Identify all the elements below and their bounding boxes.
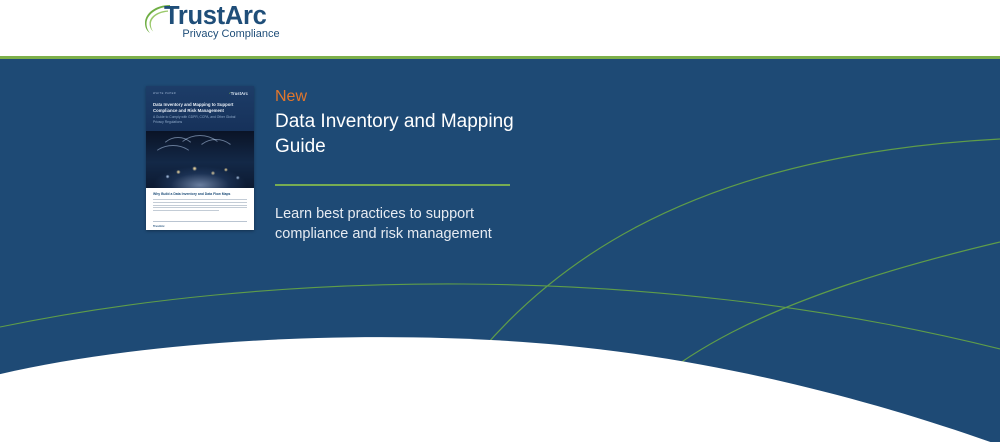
- cover-body-lines: [153, 199, 247, 213]
- cover-top-panel: WHITE PAPER ◜TrustArc Data Inventory and…: [146, 86, 254, 132]
- promo-banner-page: TrustArc Privacy Compliance WHITE PAPER …: [0, 0, 1000, 442]
- logo-tagline: Privacy Compliance: [170, 28, 292, 41]
- promo-title: Data Inventory and Mapping Guide: [275, 110, 525, 159]
- trustarc-logo[interactable]: TrustArc Privacy Compliance: [140, 1, 310, 45]
- promo-content: WHITE PAPER ◜TrustArc Data Inventory and…: [0, 59, 1000, 442]
- cover-footer-logo: TrustArc: [153, 224, 165, 228]
- cover-lower-panel: Why Build a Data Inventory and Data Flow…: [146, 188, 254, 230]
- cover-logo-text: TrustArc: [231, 91, 248, 96]
- promo-divider: [275, 184, 510, 186]
- cover-footer-rule: [153, 221, 247, 222]
- logo-wordmark: TrustArc: [164, 3, 266, 29]
- cover-lower-heading: Why Build a Data Inventory and Data Flow…: [153, 192, 230, 196]
- cover-globe-image: [146, 131, 254, 188]
- promo-new-badge: New: [275, 87, 575, 107]
- header-green-rule: [0, 56, 1000, 59]
- cover-trustarc-logo: ◜TrustArc: [229, 91, 248, 96]
- site-header: TrustArc Privacy Compliance: [0, 0, 1000, 56]
- promo-text-column: New Data Inventory and Mapping Guide Lea…: [275, 87, 575, 244]
- promo-subtitle: Learn best practices to support complian…: [275, 204, 525, 244]
- cover-title: Data Inventory and Mapping to Support Co…: [153, 102, 247, 114]
- cover-subtitle: A Guide to Comply with GDPR, CCPA, and O…: [153, 115, 243, 124]
- cover-eyebrow: WHITE PAPER: [153, 92, 176, 95]
- guide-cover-thumbnail[interactable]: WHITE PAPER ◜TrustArc Data Inventory and…: [146, 86, 254, 230]
